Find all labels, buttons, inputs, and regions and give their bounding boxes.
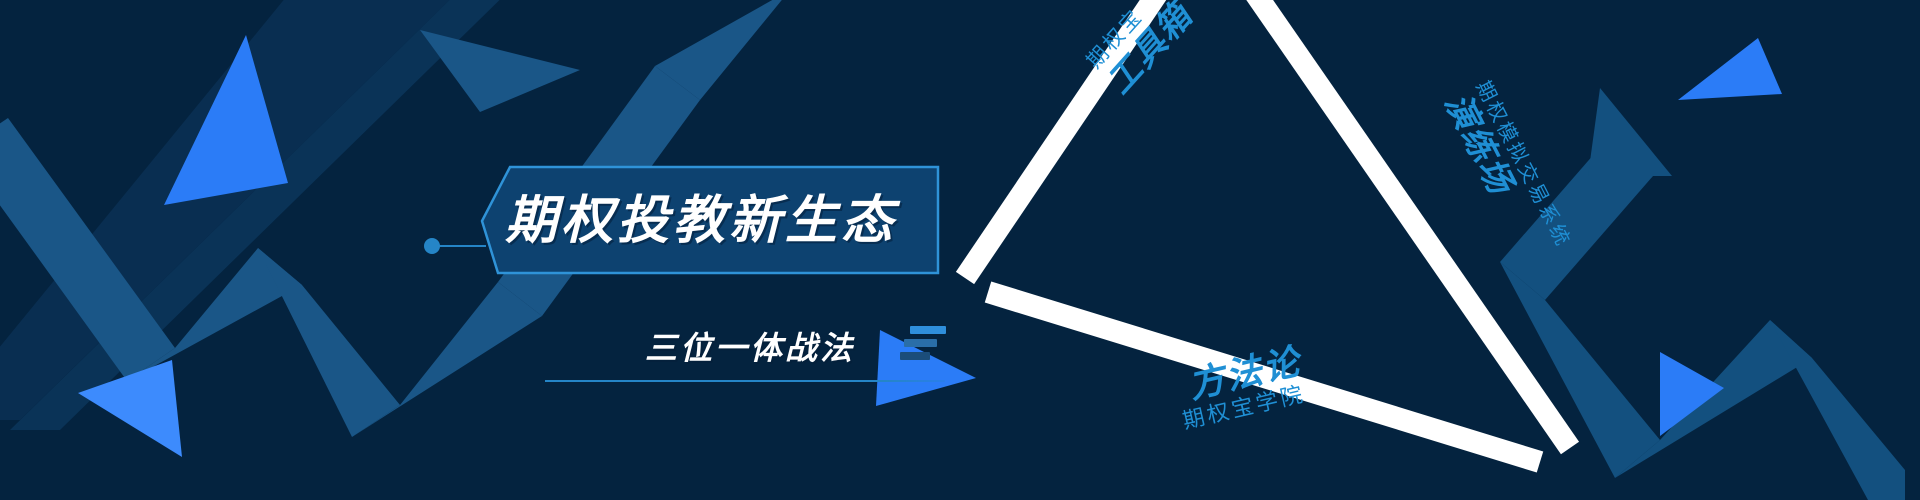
promo-banner: 期权投教新生态 三位一体战法 期权宝 工具箱 期权模拟交易系统 演练场 方法论 … — [0, 0, 1920, 500]
triangle-node-arena: 期权模拟交易系统 演练场 — [1438, 78, 1574, 269]
triangle-labels: 期权宝 工具箱 期权模拟交易系统 演练场 方法论 期权宝学院 — [0, 0, 1920, 500]
triangle-node-methodology: 方法论 期权宝学院 — [1185, 342, 1310, 429]
triangle-node-toolbox: 期权宝 工具箱 — [1082, 0, 1200, 101]
